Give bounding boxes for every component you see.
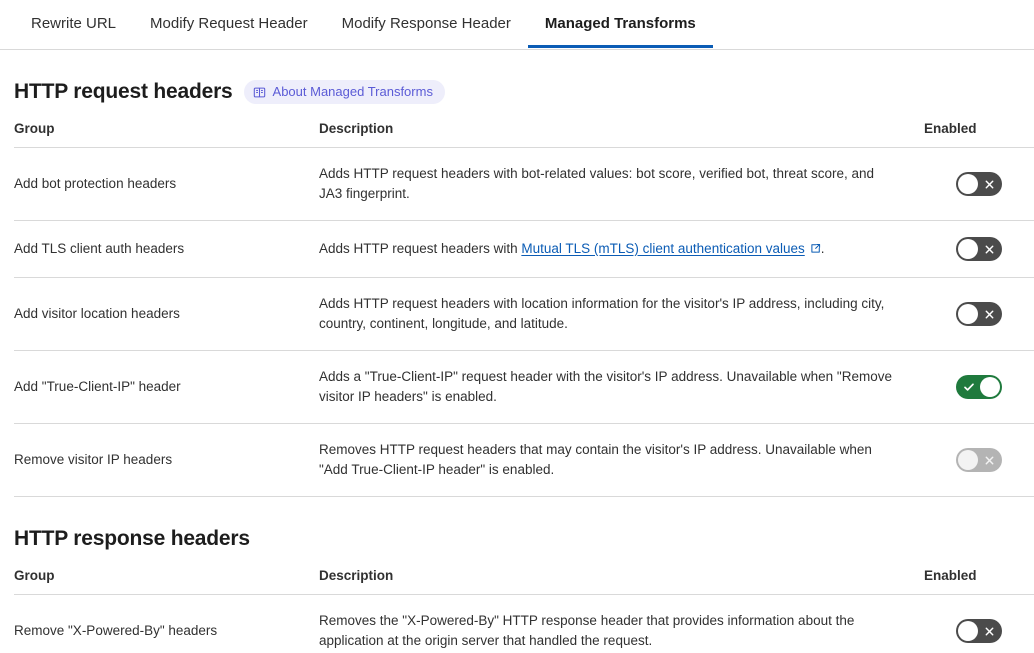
- row-enabled-cell: [924, 424, 1034, 497]
- x-icon: [984, 237, 995, 261]
- row-description-text: Adds HTTP request headers with location …: [319, 294, 924, 334]
- row-group-label: Add bot protection headers: [14, 148, 319, 221]
- description-prefix: Adds HTTP request headers with: [319, 241, 521, 256]
- toggle-remove-x-powered-by-headers[interactable]: [956, 619, 1002, 643]
- tab-modify-response-header[interactable]: Modify Response Header: [325, 0, 528, 48]
- row-group-label: Remove visitor IP headers: [14, 424, 319, 497]
- row-description: Removes the "X-Powered-By" HTTP response…: [319, 595, 924, 653]
- toggle-knob: [958, 450, 978, 470]
- toggle-knob: [958, 239, 978, 259]
- row-description: Adds HTTP request headers with Mutual TL…: [319, 221, 924, 278]
- row-enabled-cell: [924, 351, 1034, 424]
- x-icon: [984, 302, 995, 326]
- about-badge-label: About Managed Transforms: [273, 84, 433, 100]
- x-icon: [984, 619, 995, 643]
- column-header-enabled: Enabled: [924, 121, 1034, 148]
- row-description: Adds HTTP request headers with bot-relat…: [319, 148, 924, 221]
- toggle-knob: [958, 621, 978, 641]
- toggle-add-tls-client-auth-headers[interactable]: [956, 237, 1002, 261]
- tab-managed-transforms[interactable]: Managed Transforms: [528, 0, 713, 48]
- response-section-header: HTTP response headers: [14, 527, 1034, 551]
- toggle-knob: [958, 304, 978, 324]
- table-header-row: Group Description Enabled: [14, 568, 1034, 595]
- column-header-enabled: Enabled: [924, 568, 1034, 595]
- external-link-icon[interactable]: [810, 240, 821, 260]
- row-description: Removes HTTP request headers that may co…: [319, 424, 924, 497]
- response-headers-table: Group Description Enabled Remove "X-Powe…: [14, 568, 1034, 653]
- toggle-knob: [958, 174, 978, 194]
- row-description-text: Adds a "True-Client-IP" request header w…: [319, 367, 924, 407]
- toggle-add-true-client-ip-header[interactable]: [956, 375, 1002, 399]
- column-header-group: Group: [14, 568, 319, 595]
- row-group-label: Remove "X-Powered-By" headers: [14, 595, 319, 653]
- table-row: Add visitor location headers Adds HTTP r…: [14, 278, 1034, 351]
- row-description: Adds a "True-Client-IP" request header w…: [319, 351, 924, 424]
- request-section-header: HTTP request headers About Managed Trans…: [14, 80, 1034, 104]
- request-headers-table: Group Description Enabled Add bot protec…: [14, 121, 1034, 497]
- http-response-headers-section: HTTP response headers Group Description …: [0, 527, 1034, 653]
- table-header-row: Group Description Enabled: [14, 121, 1034, 148]
- x-icon: [984, 172, 995, 196]
- table-row: Add TLS client auth headers Adds HTTP re…: [14, 221, 1034, 278]
- column-header-description: Description: [319, 121, 924, 148]
- row-description-text: Removes HTTP request headers that may co…: [319, 440, 924, 480]
- row-group-label: Add TLS client auth headers: [14, 221, 319, 278]
- toggle-remove-visitor-ip-headers: [956, 448, 1002, 472]
- description-suffix: .: [821, 241, 825, 256]
- tab-modify-request-header[interactable]: Modify Request Header: [133, 0, 325, 48]
- row-enabled-cell: [924, 148, 1034, 221]
- page-title: HTTP request headers: [14, 80, 233, 104]
- row-description-text: Removes the "X-Powered-By" HTTP response…: [319, 611, 924, 651]
- about-managed-transforms-badge[interactable]: About Managed Transforms: [244, 80, 445, 104]
- table-row: Remove visitor IP headers Removes HTTP r…: [14, 424, 1034, 497]
- tab-rewrite-url[interactable]: Rewrite URL: [14, 0, 133, 48]
- mutual-tls-doc-link[interactable]: Mutual TLS (mTLS) client authentication …: [521, 241, 804, 256]
- row-enabled-cell: [924, 278, 1034, 351]
- table-row: Remove "X-Powered-By" headers Removes th…: [14, 595, 1034, 653]
- response-section-title: HTTP response headers: [14, 527, 250, 551]
- row-description: Adds HTTP request headers with location …: [319, 278, 924, 351]
- http-request-headers-section: HTTP request headers About Managed Trans…: [0, 80, 1034, 497]
- column-header-description: Description: [319, 568, 924, 595]
- table-row: Add "True-Client-IP" header Adds a "True…: [14, 351, 1034, 424]
- row-description-text: Adds HTTP request headers with Mutual TL…: [319, 239, 924, 260]
- book-icon: [253, 86, 266, 99]
- row-description-text: Adds HTTP request headers with bot-relat…: [319, 164, 924, 204]
- toggle-add-visitor-location-headers[interactable]: [956, 302, 1002, 326]
- row-group-label: Add visitor location headers: [14, 278, 319, 351]
- row-group-label: Add "True-Client-IP" header: [14, 351, 319, 424]
- toggle-knob: [980, 377, 1000, 397]
- check-icon: [963, 375, 975, 399]
- tab-bar: Rewrite URL Modify Request Header Modify…: [0, 0, 1034, 50]
- row-enabled-cell: [924, 221, 1034, 278]
- x-icon: [984, 448, 995, 472]
- toggle-add-bot-protection-headers[interactable]: [956, 172, 1002, 196]
- row-enabled-cell: [924, 595, 1034, 653]
- table-row: Add bot protection headers Adds HTTP req…: [14, 148, 1034, 221]
- column-header-group: Group: [14, 121, 319, 148]
